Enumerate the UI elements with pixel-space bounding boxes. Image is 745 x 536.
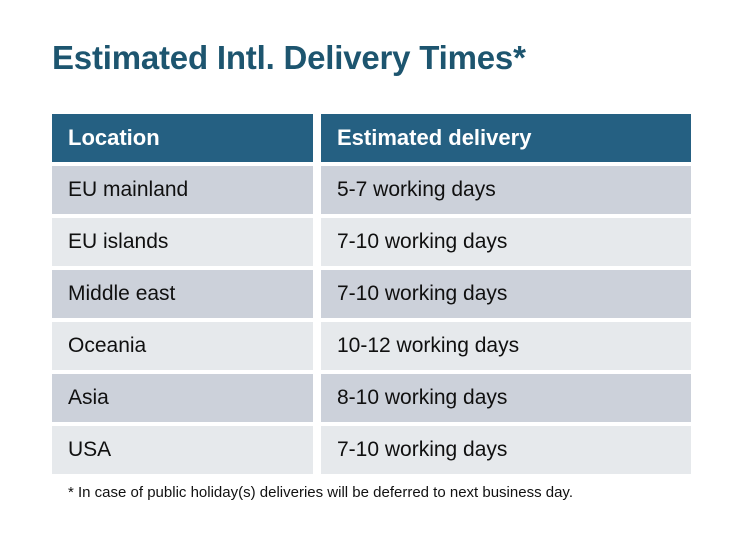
column-header-location: Location [52,114,313,162]
row-divider [313,322,321,370]
cell-estimated-delivery: 10-12 working days [321,322,691,370]
footnote-text: * In case of public holiday(s) deliverie… [68,483,573,503]
cell-location: Asia [52,374,313,422]
row-divider [313,270,321,318]
cell-estimated-delivery: 5-7 working days [321,166,691,214]
cell-location: Middle east [52,270,313,318]
table-row: Asia 8-10 working days [52,374,691,422]
cell-location: Oceania [52,322,313,370]
cell-location: USA [52,426,313,474]
cell-location: EU islands [52,218,313,266]
row-divider [313,166,321,214]
delivery-times-page: Estimated Intl. Delivery Times* Location… [0,0,745,536]
row-divider [313,374,321,422]
table-row: EU islands 7-10 working days [52,218,691,266]
table-header-row: Location Estimated delivery [52,114,691,162]
table-row: EU mainland 5-7 working days [52,166,691,214]
row-divider [313,426,321,474]
cell-estimated-delivery: 8-10 working days [321,374,691,422]
row-divider [313,218,321,266]
column-header-estimated-delivery: Estimated delivery [321,114,691,162]
page-title: Estimated Intl. Delivery Times* [52,36,526,80]
estimated-delivery-times-table: Location Estimated delivery EU mainland … [52,114,691,474]
table-row: Oceania 10-12 working days [52,322,691,370]
cell-estimated-delivery: 7-10 working days [321,426,691,474]
column-divider [313,114,321,162]
cell-estimated-delivery: 7-10 working days [321,270,691,318]
table-row: USA 7-10 working days [52,426,691,474]
table-row: Middle east 7-10 working days [52,270,691,318]
cell-estimated-delivery: 7-10 working days [321,218,691,266]
cell-location: EU mainland [52,166,313,214]
